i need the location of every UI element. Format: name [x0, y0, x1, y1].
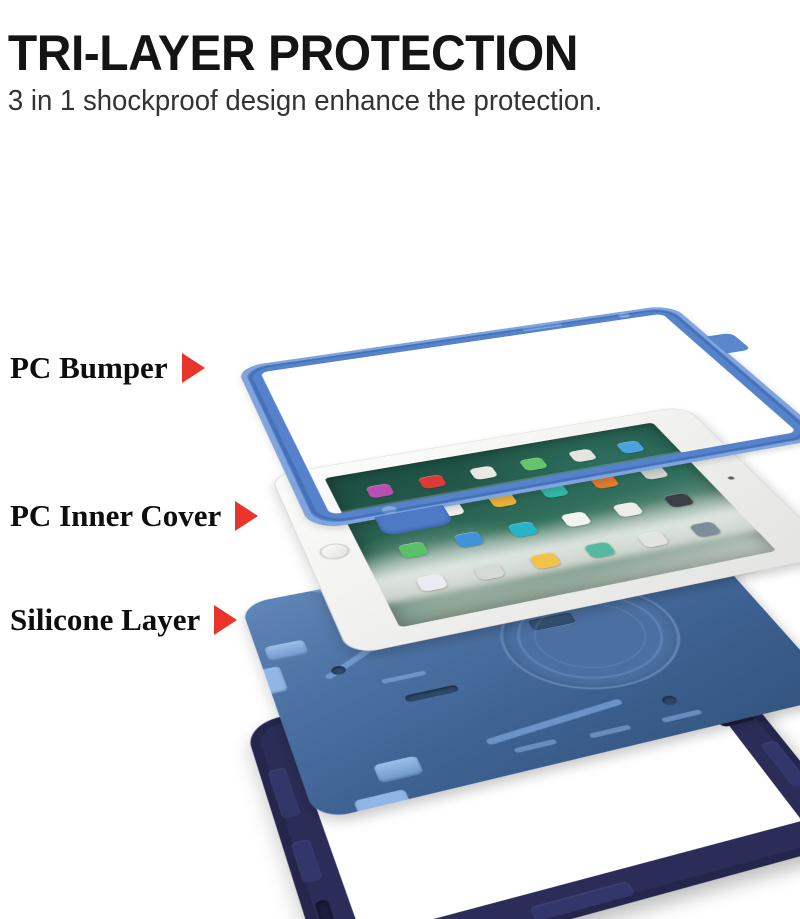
- annotation-text-pc-inner-cover: PC Inner Cover: [10, 500, 221, 531]
- triangle-right-icon: [214, 605, 237, 635]
- app-icon: [559, 511, 592, 527]
- page-subtitle: 3 in 1 shockproof design enhance the pro…: [6, 78, 755, 116]
- speaker-notch: [521, 323, 563, 332]
- app-icon: [452, 531, 485, 548]
- app-icon: [528, 552, 562, 570]
- front-camera-icon: [726, 476, 735, 480]
- annotation-text-pc-bumper: PC Bumper: [10, 352, 168, 383]
- exploded-view-stage: [250, 225, 800, 785]
- app-icon: [611, 502, 644, 518]
- app-icon: [636, 531, 670, 548]
- app-icon: [415, 573, 449, 592]
- page-title: TRI-LAYER PROTECTION: [6, 0, 762, 78]
- annotation-label-pc-inner-cover: PC Inner Cover: [10, 500, 258, 531]
- triangle-right-icon: [235, 501, 258, 531]
- app-icon: [506, 521, 539, 538]
- app-icon: [662, 492, 695, 508]
- app-icon: [688, 521, 722, 538]
- annotation-label-silicone-layer: Silicone Layer: [10, 604, 237, 635]
- header-block: TRI-LAYER PROTECTION 3 in 1 shockproof d…: [0, 0, 800, 116]
- annotation-text-silicone-layer: Silicone Layer: [10, 604, 200, 635]
- app-icon: [582, 541, 616, 559]
- annotation-label-pc-bumper: PC Bumper: [10, 352, 205, 383]
- home-button-icon: [317, 541, 353, 561]
- app-icon: [397, 541, 429, 559]
- triangle-right-icon: [182, 353, 205, 383]
- camera-notch: [616, 312, 631, 318]
- infographic-canvas: TRI-LAYER PROTECTION 3 in 1 shockproof d…: [0, 0, 800, 800]
- app-icon: [472, 562, 506, 581]
